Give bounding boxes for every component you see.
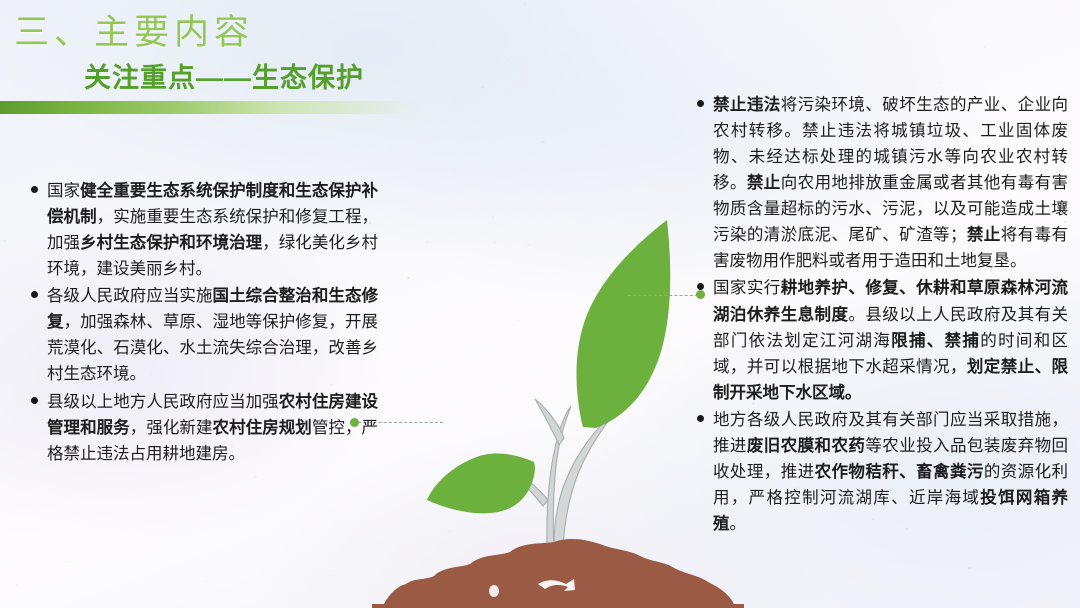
run-text-bold: 禁止 xyxy=(747,174,781,192)
run-text-bold: 乡村生态保护和环境治理 xyxy=(80,234,262,252)
run-text-bold: 农作物秸秆、畜禽粪污 xyxy=(815,463,984,481)
soil-pebble xyxy=(489,585,499,597)
run-text-bold: 禁止违法 xyxy=(713,96,781,114)
bullet-rural-housing-management: 县级以上地方人民政府应当加强农村住房建设管理和服务，强化新建农村住房规划管控，严… xyxy=(30,389,378,467)
slide-canvas: 三、主要内容 关注重点——生态保护 xyxy=(0,0,1080,608)
bullet-farmland-rest-recuperation: 国家实行耕地养护、修复、休耕和草原森林河流湖泊休养生息制度。县级以上人民政府及其… xyxy=(696,275,1068,405)
run-text: 各级人民政府应当实施 xyxy=(47,287,213,305)
page-title: 三、主要内容 xyxy=(14,4,254,55)
header-divider-bar xyxy=(0,101,420,114)
leaf-large xyxy=(577,220,671,428)
bullet-eco-system-protection: 国家健全重要生态系统保护制度和生态保护补偿机制，实施重要生态系统保护和修复工程，… xyxy=(30,178,378,282)
run-text: 国家实行 xyxy=(713,279,781,297)
bullet-agricultural-waste-recycling: 地方各级人民政府及其有关部门应当采取措施，推进废旧农膜和农药等农业投入品包装废弃… xyxy=(696,407,1068,537)
bullet-land-comprehensive-remediation: 各级人民政府应当实施国土综合整治和生态修复，加强森林、草原、湿地等保护修复，开展… xyxy=(30,283,378,387)
run-text: 国家 xyxy=(47,182,80,200)
right-text-column: 禁止违法将污染环境、破坏生态的产业、企业向农村转移。禁止违法将城镇垃圾、工业固体… xyxy=(696,92,1068,538)
run-text-bold: 限捕、禁捕 xyxy=(891,332,980,350)
left-text-column: 国家健全重要生态系统保护制度和生态保护补偿机制，实施重要生态系统保护和修复工程，… xyxy=(30,178,378,468)
run-text: 县级以上地方人民政府应当加强 xyxy=(47,393,279,411)
bullet-prohibit-illegal-transfer: 禁止违法将污染环境、破坏生态的产业、企业向农村转移。禁止违法将城镇垃圾、工业固体… xyxy=(696,92,1068,274)
run-text: 。 xyxy=(730,515,747,533)
run-text-bold: 农村住房规划 xyxy=(213,419,312,437)
connector-line-right xyxy=(628,295,698,296)
leaf-small xyxy=(427,454,535,514)
soil-mound xyxy=(372,539,744,608)
run-text: ，强化新建 xyxy=(130,419,213,437)
run-text: ，加强森林、草原、湿地等保护修复，开展荒漠化、石漠化、水土流失综合治理，改善乡村… xyxy=(47,313,378,383)
run-text-bold: 废旧农膜和农药 xyxy=(747,437,865,455)
run-text-bold: 禁止 xyxy=(966,226,1000,244)
page-subtitle: 关注重点——生态保护 xyxy=(84,56,364,95)
